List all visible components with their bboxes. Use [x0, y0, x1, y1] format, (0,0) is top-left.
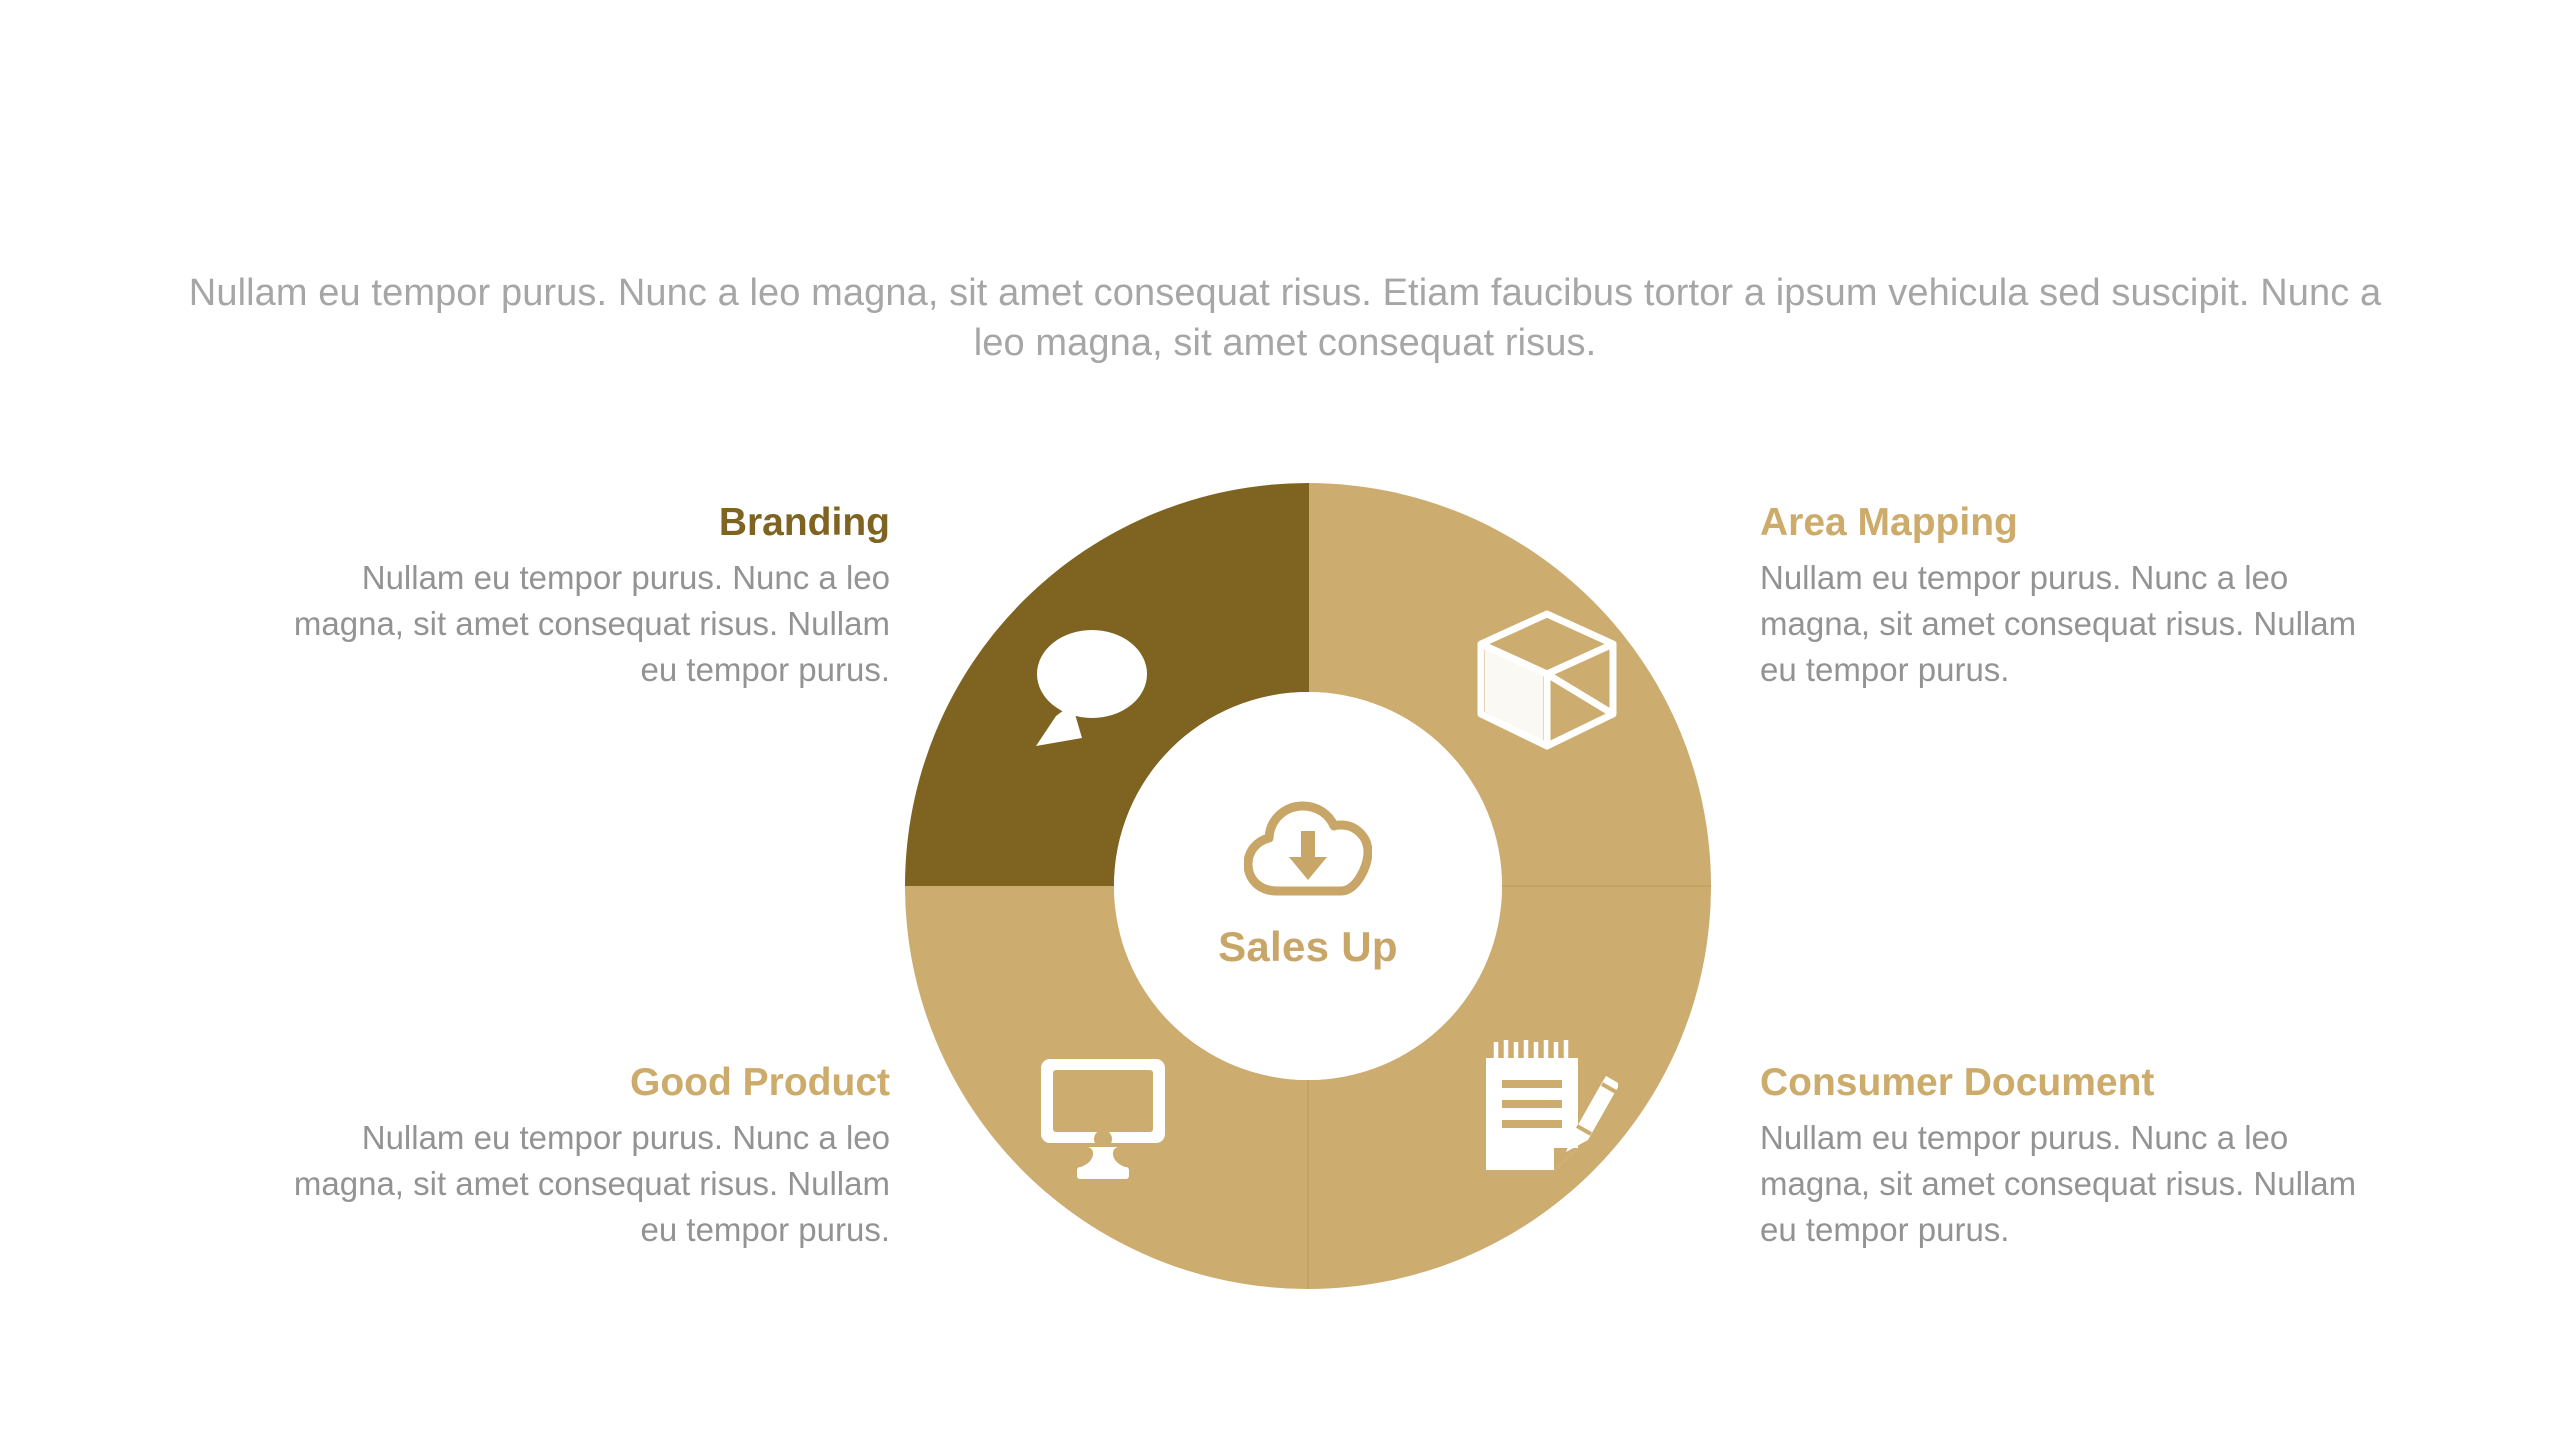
open-box-icon[interactable] [1473, 606, 1621, 754]
monitor-icon[interactable] [1037, 1057, 1169, 1181]
infographic-canvas: Nullam eu tempor purus. Nunc a leo magna… [0, 0, 2560, 1440]
center-hub[interactable]: Sales Up [1114, 692, 1502, 1080]
callout-branding: Branding Nullam eu tempor purus. Nunc a … [290, 500, 890, 694]
speech-bubble-icon[interactable] [1022, 626, 1152, 748]
notepad-pencil-icon[interactable] [1478, 1036, 1618, 1176]
callout-title-branding: Branding [290, 500, 890, 546]
cloud-download-icon [1244, 801, 1372, 897]
callout-area-mapping: Area Mapping Nullam eu tempor purus. Nun… [1760, 500, 2360, 694]
callout-good-product: Good Product Nullam eu tempor purus. Nun… [290, 1060, 890, 1254]
center-label: Sales Up [1218, 923, 1398, 971]
callout-body-good-product: Nullam eu tempor purus. Nunc a leo magna… [290, 1115, 890, 1254]
callout-body-branding: Nullam eu tempor purus. Nunc a leo magna… [290, 555, 890, 694]
intro-paragraph: Nullam eu tempor purus. Nunc a leo magna… [170, 268, 2400, 368]
callout-body-area-mapping: Nullam eu tempor purus. Nunc a leo magna… [1760, 555, 2360, 694]
callout-title-area-mapping: Area Mapping [1760, 500, 2360, 546]
callout-title-consumer-document: Consumer Document [1760, 1060, 2360, 1106]
callout-title-good-product: Good Product [290, 1060, 890, 1106]
callout-consumer-document: Consumer Document Nullam eu tempor purus… [1760, 1060, 2360, 1254]
callout-body-consumer-document: Nullam eu tempor purus. Nunc a leo magna… [1760, 1115, 2360, 1254]
